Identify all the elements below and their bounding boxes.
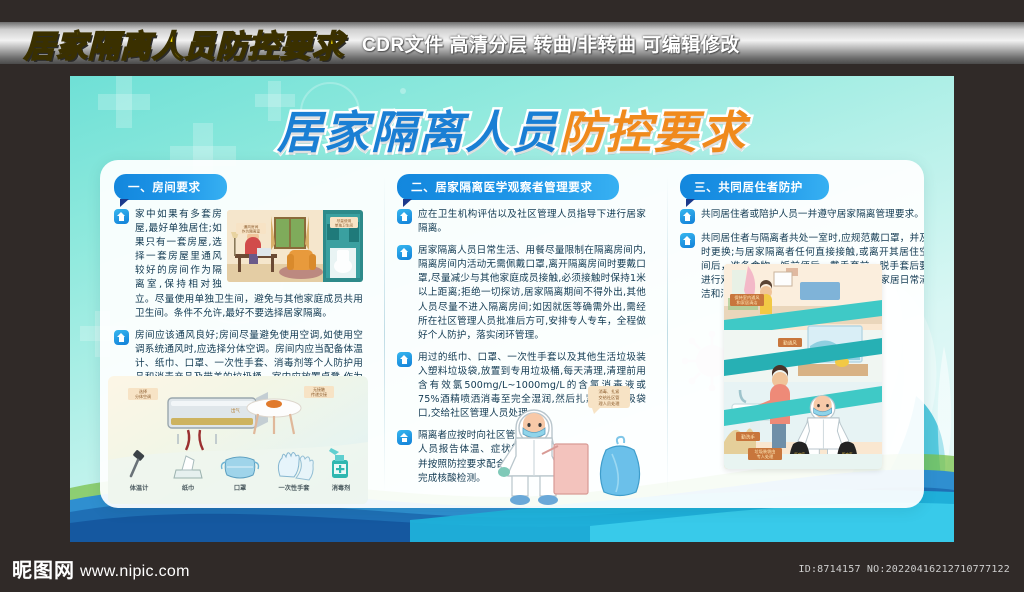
cohabitant-illustration-svg: 医疗废 物垃圾 医疗废 物垃圾 保持室内通风 和家居清洁 bbox=[724, 264, 882, 469]
section-heading-1: 一、房间要求 bbox=[114, 174, 227, 200]
site-url: www.nipic.com bbox=[80, 563, 190, 580]
svg-text:勤洗手: 勤洗手 bbox=[741, 434, 755, 441]
svg-text:理人员处理: 理人员处理 bbox=[599, 400, 621, 407]
svg-text:分体空调: 分体空调 bbox=[135, 393, 151, 399]
supplies-illustration-svg: 出气 bbox=[108, 376, 368, 504]
banner-subtitle: CDR文件 高清分层 转曲/非转曲 可编辑修改 bbox=[362, 30, 740, 57]
poster-artboard: 居家隔离人员防控要求 一、房间要求 bbox=[70, 76, 954, 542]
bullet-text: 共同居住者或陪护人员一并遵守居家隔离管理要求。 bbox=[701, 208, 924, 222]
svg-text:体温计: 体温计 bbox=[130, 484, 149, 492]
section-heading-3: 三、共同居住者防护 bbox=[680, 174, 829, 200]
column-cohabitant-protection: 三、共同居住者防护 共同居住者或陪护人员一并遵守居家隔离管理要求。 共同居住者与… bbox=[668, 160, 924, 508]
room-illustration-svg: 通风房间 作为隔离室 尽量使用 单独卫生间 bbox=[227, 210, 363, 282]
svg-text:出气: 出气 bbox=[231, 407, 240, 414]
bullet-text: 居家隔离人员日常生活、用餐尽量限制在隔离房间内,隔离房间内活动无需佩戴口罩,离开… bbox=[418, 244, 646, 343]
bullet-item: 应在卫生机构评估以及社区管理人员指导下进行居家隔离。 bbox=[397, 208, 646, 236]
image-id-text: ID:8714157 NO:20220416212710777122 bbox=[799, 564, 1011, 575]
home-icon bbox=[397, 352, 412, 367]
svg-text:传递交接: 传递交接 bbox=[311, 391, 327, 397]
svg-text:消毒、扎紧: 消毒、扎紧 bbox=[599, 388, 620, 395]
home-icon bbox=[680, 209, 695, 224]
svg-text:口罩: 口罩 bbox=[234, 484, 246, 492]
column-room-requirements: 一、房间要求 bbox=[102, 160, 373, 508]
dot-icon bbox=[400, 88, 406, 94]
poster-headline: 居家隔离人员防控要求 bbox=[70, 96, 954, 161]
bullet-item: 共同居住者或陪护人员一并遵守居家隔离管理要求。 bbox=[680, 208, 924, 224]
home-icon bbox=[680, 233, 695, 248]
content-card: 一、房间要求 bbox=[100, 160, 924, 508]
site-name-cn: 昵图网 bbox=[12, 560, 75, 580]
svg-text:勤通风: 勤通风 bbox=[783, 340, 797, 347]
svg-text:和家居清洁: 和家居清洁 bbox=[737, 299, 758, 306]
bullet-item: 通风房间 作为隔离室 尽量使用 单独卫生间 家中如果有多套房屋,最好单独居住;如… bbox=[114, 208, 363, 321]
home-icon bbox=[397, 245, 412, 260]
svg-text:一次性手套: 一次性手套 bbox=[279, 484, 311, 492]
svg-text:通风房间: 通风房间 bbox=[244, 224, 259, 229]
home-icon bbox=[397, 209, 412, 224]
supplies-illustration: 出气 bbox=[108, 376, 368, 504]
home-icon bbox=[114, 330, 129, 345]
column-observation-management: 二、居家隔离医学观察者管理要求 应在卫生机构评估以及社区管理人员指导下进行居家隔… bbox=[385, 160, 656, 508]
headline-part-2: 防控要求 bbox=[559, 96, 747, 161]
banner-title: 居家隔离人员防控要求 bbox=[24, 22, 344, 64]
svg-text:消毒剂: 消毒剂 bbox=[332, 484, 351, 492]
worker-illustration: 消毒、扎紧 交给社区管 理人员处理 bbox=[482, 384, 654, 508]
headline-part-1: 居家隔离人员 bbox=[277, 96, 559, 161]
svg-text:尽量使用: 尽量使用 bbox=[337, 218, 352, 223]
bullet-item: 居家隔离人员日常生活、用餐尽量限制在隔离房间内,隔离房间内活动无需佩戴口罩,离开… bbox=[397, 244, 646, 343]
home-icon bbox=[114, 209, 129, 224]
site-watermark: 昵图网 www.nipic.com bbox=[12, 560, 190, 580]
worker-illustration-svg: 消毒、扎紧 交给社区管 理人员处理 bbox=[482, 384, 654, 508]
bullet-text: 应在卫生机构评估以及社区管理人员指导下进行居家隔离。 bbox=[418, 208, 646, 236]
home-icon bbox=[397, 430, 412, 445]
svg-text:专人处理: 专人处理 bbox=[757, 453, 775, 460]
top-banner-bar: 居家隔离人员防控要求 CDR文件 高清分层 转曲/非转曲 可编辑修改 bbox=[0, 22, 1024, 64]
svg-text:纸巾: 纸巾 bbox=[182, 484, 194, 492]
svg-text:交给社区管: 交给社区管 bbox=[599, 394, 620, 401]
svg-text:作为隔离室: 作为隔离室 bbox=[242, 228, 261, 233]
room-illustration: 通风房间 作为隔离室 尽量使用 单独卫生间 bbox=[227, 210, 363, 282]
cohabitant-illustration: 医疗废 物垃圾 医疗废 物垃圾 保持室内通风 和家居清洁 bbox=[724, 264, 882, 469]
screenshot-root: 居家隔离人员防控要求 CDR文件 高清分层 转曲/非转曲 可编辑修改 bbox=[0, 0, 1024, 592]
svg-text:单独卫生间: 单独卫生间 bbox=[335, 222, 354, 227]
section-heading-2: 二、居家隔离医学观察者管理要求 bbox=[397, 174, 619, 200]
